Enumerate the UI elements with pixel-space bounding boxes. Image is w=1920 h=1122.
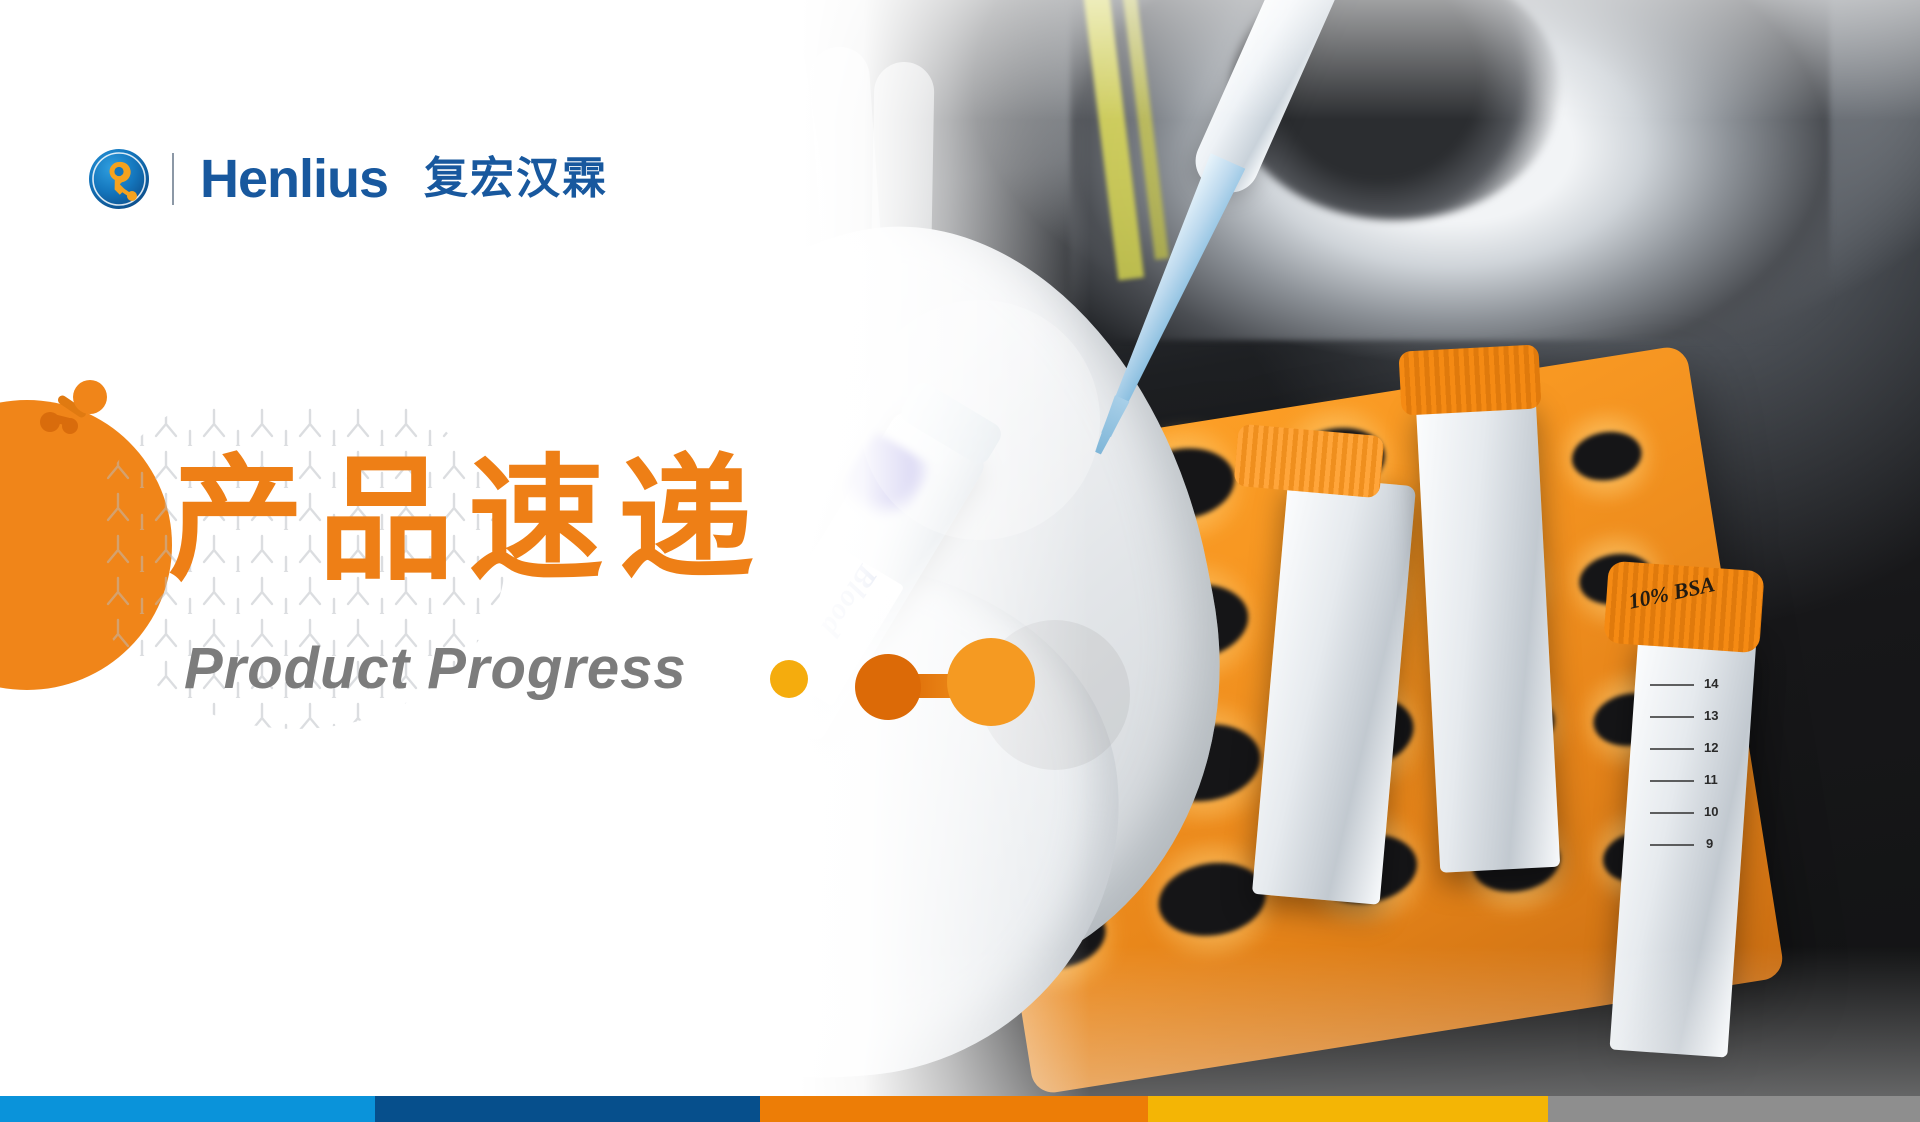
molecule-node-left	[855, 654, 921, 720]
bottom-color-bar	[0, 1096, 1920, 1122]
small-molecule-icon	[40, 380, 110, 438]
large-molecule-icon	[855, 638, 1035, 724]
graduation-line	[1650, 716, 1694, 718]
photo-fade-left	[800, 0, 1090, 1096]
graduation-11: 11	[1704, 772, 1718, 787]
graduation-line	[1650, 748, 1694, 750]
graduation-13: 13	[1704, 708, 1718, 723]
molecule-node-right	[947, 638, 1035, 726]
bottom-bar-segment-amber	[1148, 1096, 1548, 1122]
henlius-logo[interactable]: Henlius 复宏汉霖	[88, 148, 608, 210]
molecule-node	[73, 380, 107, 414]
graduation-line	[1650, 684, 1694, 686]
graduated-tube-2	[1416, 397, 1560, 873]
decor-dot-icon	[770, 660, 808, 698]
page-title: 产品速递	[168, 452, 768, 588]
bottom-bar-segment-gray	[1548, 1096, 1920, 1122]
molecule-node	[40, 412, 60, 432]
tube-cap-bsa	[1603, 561, 1764, 654]
logo-chinese-name: 复宏汉霖	[424, 157, 608, 201]
logo-divider	[172, 153, 174, 205]
molecule-node	[62, 418, 78, 434]
lab-photo: 10% BSA 14 13 12 11 10 9 Blood	[800, 0, 1920, 1096]
graduation-line	[1650, 812, 1694, 814]
bottom-bar-segment-orange	[760, 1096, 1148, 1122]
tube-cap-1	[1398, 344, 1541, 415]
slide-root: 10% BSA 14 13 12 11 10 9 Blood	[0, 0, 1920, 1122]
bottom-bar-segment-light-blue	[0, 1096, 375, 1122]
graduation-line	[1650, 844, 1694, 846]
graduation-line	[1650, 780, 1694, 782]
bottom-bar-segment-dark-blue	[375, 1096, 760, 1122]
page-subtitle: Product Progress	[184, 640, 687, 698]
tube-cap-2	[1234, 424, 1385, 498]
graduation-10: 10	[1704, 804, 1718, 819]
graduation-12: 12	[1704, 740, 1718, 755]
henlius-molecule-emblem-icon	[88, 148, 150, 210]
logo-english-name: Henlius	[200, 152, 388, 206]
graduation-9: 9	[1706, 836, 1713, 851]
graduation-14: 14	[1704, 676, 1718, 691]
